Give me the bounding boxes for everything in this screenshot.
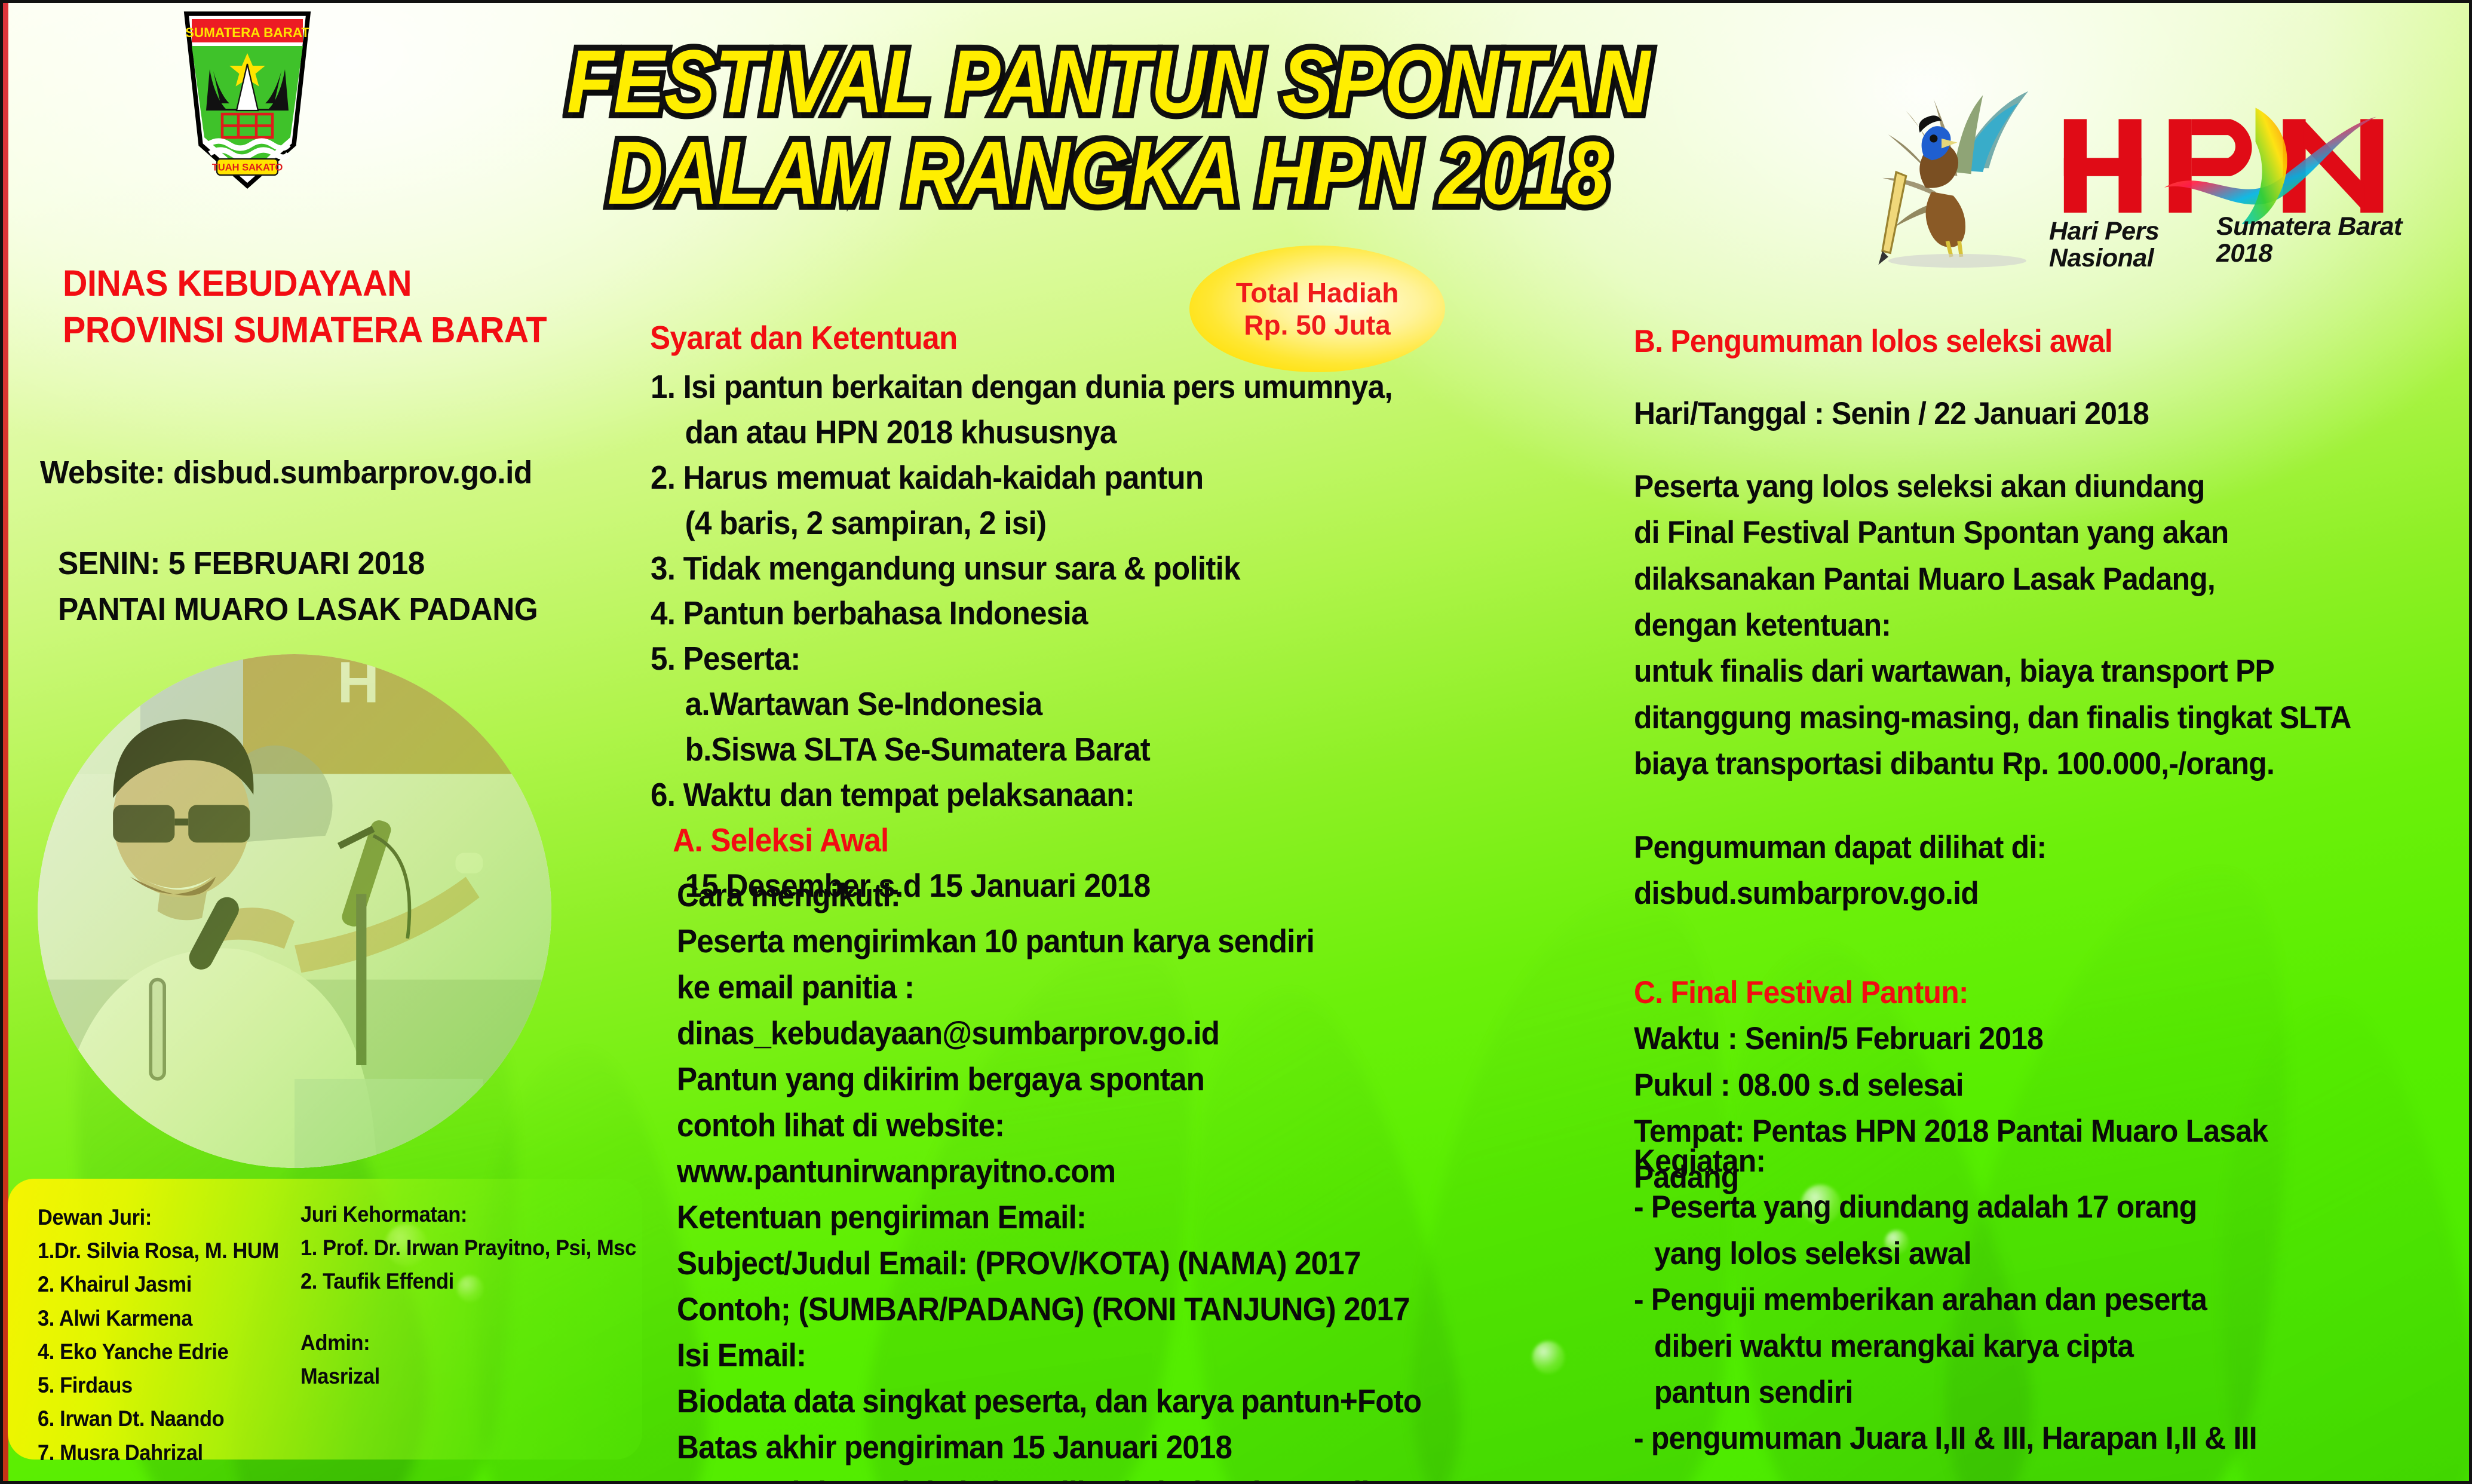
coat-of-arms-banner-text: SUMATERA BARAT — [185, 25, 310, 40]
how-to-join-line: Pantun yang dikirim bergaya spontan — [677, 1056, 1566, 1102]
organizer-line-1: DINAS KEBUDAYAAN — [63, 260, 602, 306]
speaker-photo: H — [38, 654, 551, 1168]
spacer — [1634, 437, 2431, 464]
hpn-caption-left-line2: Nasional — [2049, 244, 2154, 272]
list-item: 1.Dr. Silvia Rosa, M. HUM — [38, 1234, 299, 1268]
list-item: 6. Waktu dan tempat pelaksanaan: — [651, 772, 1517, 818]
final-pukul: Pukul : 08.00 s.d selesai — [1634, 1062, 2431, 1108]
poster-canvas: TUAH SAKATO SUMATERA BARAT FESTIVAL PANT… — [0, 0, 2472, 1484]
how-to-join-line: ke email panitia : — [677, 964, 1566, 1010]
how-to-join-block: Cara mengikuti: Peserta mengirimkan 10 p… — [677, 872, 1566, 1484]
how-to-join-line: contoh lihat di website: — [677, 1102, 1566, 1148]
list-item: 7. Musra Dahrizal — [38, 1436, 299, 1470]
how-to-join-line: Cara mengikuti: — [677, 872, 1566, 918]
list-item: 2. Taufik Effendi — [300, 1265, 645, 1298]
list-item-cont: yang lolos seleksi awal — [1634, 1231, 2431, 1277]
title-line-2: DALAM RANGKA HPN 2018 — [517, 127, 1699, 219]
spacer — [1634, 943, 2431, 970]
section-b-heading: B. Pengumuman lolos seleksi awal — [1634, 318, 2431, 364]
list-item: 5. Peserta: — [651, 636, 1517, 682]
list-item: a.Wartawan Se-Indonesia — [651, 682, 1517, 727]
final-waktu: Waktu : Senin/5 Februari 2018 — [1634, 1016, 2431, 1062]
list-item: 6. Irwan Dt. Naando — [38, 1402, 299, 1436]
event-venue: PANTAI MUARO LASAK PADANG — [58, 587, 614, 633]
peacock-icon — [1863, 73, 2060, 271]
kegiatan-block: Kegiatan: - Peserta yang diundang adalah… — [1634, 1138, 2431, 1462]
hpn-caption-left-line1: Hari Pers — [2049, 217, 2159, 246]
sumatera-barat-coat-of-arms: TUAH SAKATO SUMATERA BARAT — [157, 10, 338, 189]
how-to-join-line: Peserta mengirimkan 10 pantun karya send… — [677, 918, 1566, 964]
event-when-where: SENIN: 5 FEBRUARI 2018 PANTAI MUARO LASA… — [58, 541, 614, 632]
how-to-join-line: Contoh; (SUMBAR/PADANG) (RONI TANJUNG) 2… — [677, 1286, 1566, 1332]
jury-kehormatan-heading: Juri Kehormatan: — [300, 1198, 645, 1231]
spacer — [1634, 917, 2431, 943]
how-to-join-line: Batas akhir pengiriman 15 Januari 2018 — [677, 1424, 1566, 1470]
how-to-join-line: Peserta lolos seleksi akan diberitahukan… — [677, 1470, 1566, 1484]
hpn-caption-right: Sumatera Barat 2018 — [2216, 213, 2402, 267]
kegiatan-heading: Kegiatan: — [1634, 1138, 2431, 1184]
list-item: - Peserta yang diundang adalah 17 orang — [1634, 1184, 2431, 1230]
how-to-join-line: Subject/Judul Email: (PROV/KOTA) (NAMA) … — [677, 1240, 1566, 1286]
list-item: 5. Firdaus — [38, 1369, 299, 1402]
organizer-website: Website: disbud.sumbarprov.go.id — [40, 454, 596, 491]
event-date: SENIN: 5 FEBRUARI 2018 — [58, 541, 614, 587]
committee-email: dinas_kebudayaan@sumbarprov.go.id — [677, 1010, 1566, 1056]
section-b-line: biaya transportasi dibantu Rp. 100.000,-… — [1634, 741, 2431, 787]
jury-dewan-heading: Dewan Juri: — [38, 1201, 299, 1234]
spacer — [1634, 364, 2431, 391]
section-b-line: Peserta yang lolos seleksi akan diundang — [1634, 464, 2431, 510]
section-b-line: dilaksanakan Pantai Muaro Lasak Padang, — [1634, 556, 2431, 602]
hpn-caption-left: Hari Pers Nasional — [2049, 218, 2159, 272]
jury-dewan-list: Dewan Juri: 1.Dr. Silvia Rosa, M. HUM 2.… — [38, 1201, 299, 1470]
list-item: 4. Eko Yanche Edrie — [38, 1335, 299, 1369]
terms-heading: Syarat dan Ketentuan — [650, 318, 958, 357]
list-item-cont: pantun sendiri — [1634, 1369, 2431, 1415]
how-to-join-line: Biodata data singkat peserta, dan karya … — [677, 1378, 1566, 1424]
section-c-heading: C. Final Festival Pantun: — [1634, 970, 2431, 1016]
prize-label: Total Hadiah — [1236, 277, 1399, 309]
how-to-join-line: Isi Email: — [677, 1332, 1566, 1378]
hpn-caption-right-line1: Sumatera Barat — [2216, 212, 2402, 241]
list-item: 3. Tidak mengandung unsur sara & politik — [651, 546, 1517, 591]
list-item: 2. Khairul Jasmi — [38, 1268, 299, 1301]
section-b-line: ditanggung masing-masing, dan finalis ti… — [1634, 695, 2431, 741]
list-item: 1. Isi pantun berkaitan dengan dunia per… — [651, 364, 1517, 410]
section-b-date: Hari/Tanggal : Senin / 22 Januari 2018 — [1634, 391, 2431, 437]
organizer-line-2: PROVINSI SUMATERA BARAT — [63, 306, 602, 353]
organizer-name: DINAS KEBUDAYAAN PROVINSI SUMATERA BARAT — [63, 260, 602, 353]
list-item-cont: diberi waktu merangkai karya cipta — [1634, 1323, 2431, 1369]
list-item: 2. Harus memuat kaidah-kaidah pantun — [651, 455, 1517, 501]
hpn-caption-right-line2: 2018 — [2216, 239, 2272, 268]
terms-list: 1. Isi pantun berkaitan dengan dunia per… — [651, 364, 1517, 909]
hpn-letters — [2043, 99, 2431, 224]
list-item: 3. Alwi Karmena — [38, 1302, 299, 1335]
announcement-url: disbud.sumbarprov.go.id — [1634, 870, 2431, 916]
example-website-url: www.pantunirwanprayitno.com — [677, 1148, 1566, 1194]
list-item: 1. Prof. Dr. Irwan Prayitno, Psi, Msc — [300, 1231, 645, 1265]
section-b-line: dengan ketentuan: — [1634, 602, 2431, 648]
list-item: - Penguji memberikan arahan dan peserta — [1634, 1277, 2431, 1323]
prize-badge: Total Hadiah Rp. 50 Juta — [1189, 246, 1445, 372]
seleksi-awal-label: A. Seleksi Awal — [651, 818, 1517, 863]
list-item: dan atau HPN 2018 khususnya — [651, 410, 1517, 455]
section-b-line: untuk finalis dari wartawan, biaya trans… — [1634, 648, 2431, 694]
coat-of-arms-motto: TUAH SAKATO — [212, 162, 283, 173]
list-item: 4. Pantun berbahasa Indonesia — [651, 591, 1517, 636]
jury-kehormatan-list: Juri Kehormatan: 1. Prof. Dr. Irwan Pray… — [300, 1198, 645, 1393]
admin-heading: Admin: — [300, 1326, 645, 1360]
list-item: b.Siswa SLTA Se-Sumatera Barat — [651, 727, 1517, 772]
page-title: FESTIVAL PANTUN SPONTAN DALAM RANGKA HPN… — [517, 36, 1699, 219]
announcement-label: Pengumuman dapat dilihat di: — [1634, 824, 2431, 870]
hpn-2018-logo: Hari Pers Nasional Sumatera Barat 2018 — [1846, 27, 2449, 284]
spacer — [300, 1299, 645, 1326]
section-b-line: di Final Festival Pantun Spontan yang ak… — [1634, 510, 2431, 556]
list-item: (4 baris, 2 sampiran, 2 isi) — [651, 501, 1517, 546]
section-b-block: B. Pengumuman lolos seleksi awal Hari/Ta… — [1634, 318, 2431, 787]
title-line-1: FESTIVAL PANTUN SPONTAN — [517, 36, 1699, 127]
admin-name: Masrizal — [300, 1360, 645, 1393]
how-to-join-line: Ketentuan pengiriman Email: — [677, 1194, 1566, 1240]
prize-amount: Rp. 50 Juta — [1244, 309, 1390, 341]
list-item: - pengumuman Juara I,II & III, Harapan I… — [1634, 1415, 2431, 1461]
